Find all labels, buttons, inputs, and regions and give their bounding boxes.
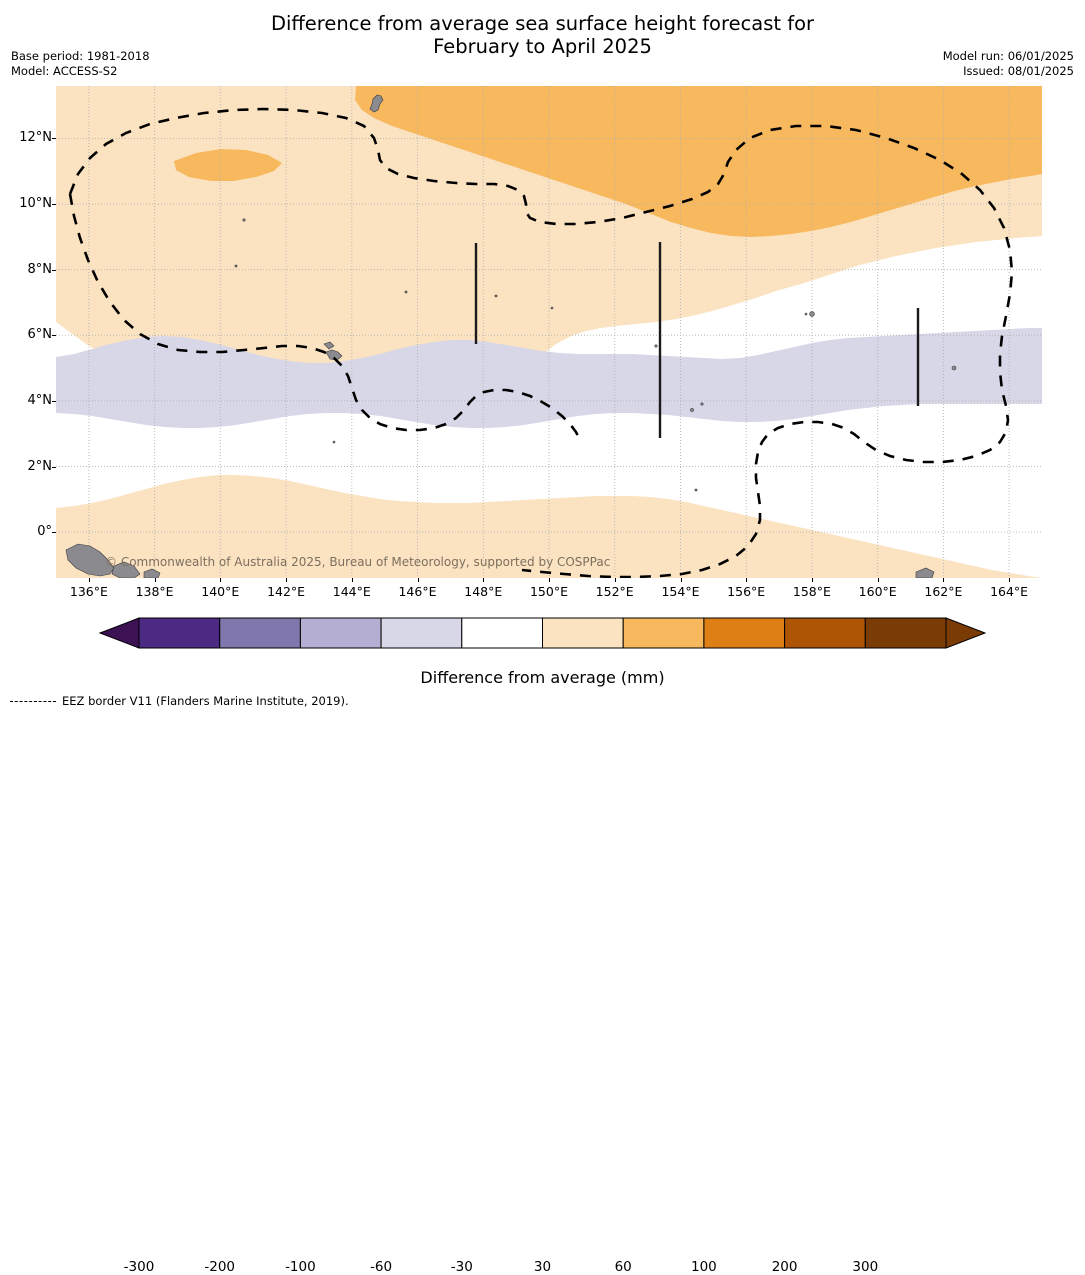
colorbar-bin--30-30 [462,618,543,648]
x-tick-mark-156E [746,578,747,582]
y-tick-mark-4N [52,401,56,402]
x-tick-mark-150E [549,578,550,582]
x-tick-label-150E: 150°E [514,584,584,599]
metadata-left: Base period: 1981-2018 Model: ACCESS-S2 [11,49,150,78]
colorbar-bin--300--200 [139,618,220,648]
colorbar-tick--60: -60 [341,1259,421,1275]
y-tick-label-6N: 6°N [0,327,52,342]
x-tick-label-152E: 152°E [580,584,650,599]
colorbar-tick--100: -100 [260,1259,340,1275]
colorbar-tick-30: 30 [503,1259,583,1275]
colorbar-bin-30-60 [543,618,624,648]
y-tick-mark-12N [52,138,56,139]
model-text: Model: ACCESS-S2 [11,64,150,79]
y-tick-label-12N: 12°N [0,130,52,145]
y-tick-label-0: 0° [0,524,52,539]
colorbar-tick-300: 300 [825,1259,905,1275]
model-run-text: Model run: 06/01/2025 [943,49,1074,64]
y-tick-mark-2N [52,467,56,468]
page-title: Difference from average sea surface heig… [0,12,1085,58]
x-tick-label-136E: 136°E [54,584,124,599]
colorbar-extend-min [100,618,139,648]
x-tick-label-138E: 138°E [120,584,190,599]
x-tick-mark-160E [878,578,879,582]
colorbar-tick--200: -200 [180,1259,260,1275]
eez-legend-label: EEZ border V11 (Flanders Marine Institut… [62,694,349,708]
colorbar-tick--30: -30 [422,1259,502,1275]
x-tick-label-148E: 148°E [448,584,518,599]
y-tick-mark-6N [52,335,56,336]
x-tick-mark-140E [220,578,221,582]
y-tick-label-10N: 10°N [0,196,52,211]
y-tick-label-2N: 2°N [0,459,52,474]
y-tick-label-4N: 4°N [0,393,52,408]
colorbar-bin-200-300 [785,618,866,648]
x-tick-label-162E: 162°E [908,584,978,599]
x-tick-mark-142E [286,578,287,582]
figure: Difference from average sea surface heig… [0,0,1085,713]
y-tick-mark-10N [52,204,56,205]
colorbar-title: Difference from average (mm) [0,668,1085,687]
colorbar[interactable]: -300 -200 -100 -60 -30 30 60 100 200 300 [0,615,1085,660]
y-tick-label-8N: 8°N [0,262,52,277]
x-tick-label-160E: 160°E [843,584,913,599]
eez-dash-sample-icon [10,701,56,703]
issued-text: Issued: 08/01/2025 [943,64,1074,79]
colorbar-bin-300plus [865,618,946,648]
y-tick-mark-0 [52,532,56,533]
x-tick-mark-136E [89,578,90,582]
metadata-right: Model run: 06/01/2025 Issued: 08/01/2025 [943,49,1074,78]
x-tick-mark-162E [943,578,944,582]
x-tick-label-144E: 144°E [317,584,387,599]
x-tick-mark-146E [418,578,419,582]
x-tick-mark-154E [681,578,682,582]
colorbar-tick-100: 100 [664,1259,744,1275]
colorbar-bin--100--60 [300,618,381,648]
x-tick-label-158E: 158°E [777,584,847,599]
x-tick-label-140E: 140°E [185,584,255,599]
colorbar-tick-200: 200 [745,1259,825,1275]
x-tick-mark-144E [352,578,353,582]
x-tick-mark-152E [615,578,616,582]
eez-legend: EEZ border V11 (Flanders Marine Institut… [10,694,349,708]
x-tick-label-164E: 164°E [974,584,1044,599]
title-line-1: Difference from average sea surface heig… [271,12,814,35]
map-plot-area [56,86,1042,578]
colorbar-bin-60-100 [623,618,704,648]
x-tick-label-142E: 142°E [251,584,321,599]
x-tick-label-156E: 156°E [711,584,781,599]
base-period-text: Base period: 1981-2018 [11,49,150,64]
title-line-2: February to April 2025 [0,35,1085,58]
x-tick-mark-148E [483,578,484,582]
colorbar-bin-100-200 [704,618,785,648]
y-tick-mark-8N [52,270,56,271]
x-tick-mark-158E [812,578,813,582]
x-tick-label-146E: 146°E [383,584,453,599]
map-copyright-text: © Commonwealth of Australia 2025, Bureau… [105,555,610,569]
x-tick-label-154E: 154°E [646,584,716,599]
sea-surface-height-anomaly-map [56,86,1042,578]
colorbar-extend-max [946,618,985,648]
x-tick-mark-164E [1009,578,1010,582]
colorbar-swatches [0,615,1085,660]
colorbar-tick--300: -300 [99,1259,179,1275]
colorbar-tick-60: 60 [583,1259,663,1275]
colorbar-bin--60--30 [381,618,462,648]
x-tick-mark-138E [155,578,156,582]
colorbar-bin--200--100 [220,618,301,648]
